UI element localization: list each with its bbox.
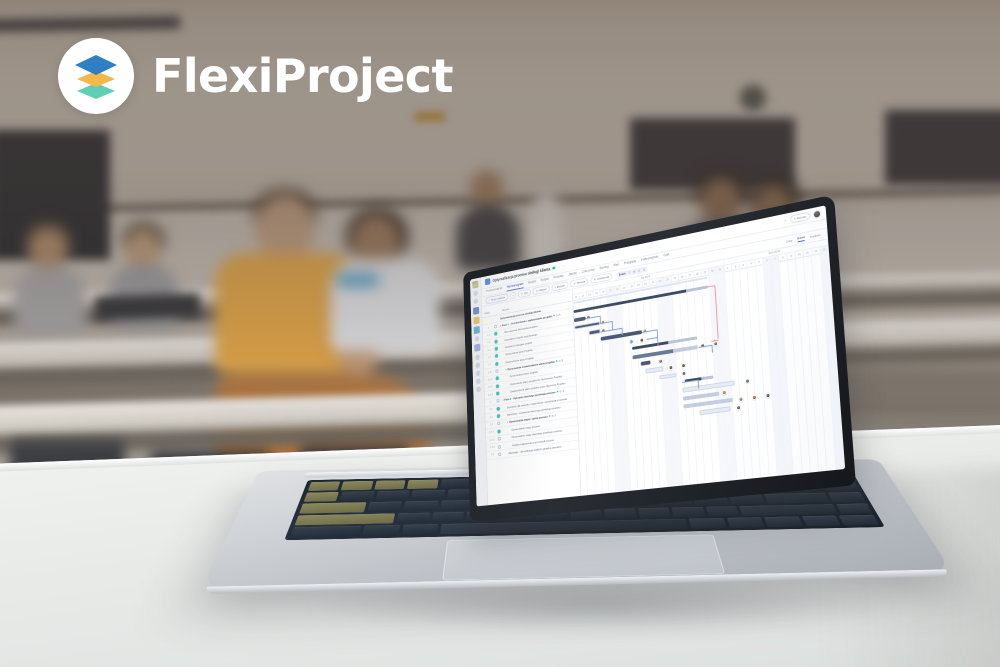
calendar-icon[interactable] xyxy=(476,370,481,376)
tab-scoring[interactable]: Scoring xyxy=(600,265,609,272)
status-open-icon xyxy=(498,452,501,456)
chevron-down-icon[interactable]: ▾ xyxy=(500,325,501,328)
bell-icon[interactable]: ☉ xyxy=(784,218,787,223)
risks-icon[interactable] xyxy=(475,354,480,360)
task-wbs: 2.1 xyxy=(487,408,495,412)
export-label: Eksport xyxy=(557,284,565,289)
status-badge xyxy=(553,266,556,270)
help-icon[interactable] xyxy=(476,387,481,393)
gantt-bar-progress xyxy=(589,330,599,334)
task-wbs xyxy=(484,320,492,322)
tab-plan[interactable]: Plan xyxy=(613,263,619,269)
task-wbs: 1 xyxy=(484,326,492,330)
view-gantt[interactable]: Gantt xyxy=(797,235,805,242)
star-icon[interactable]: ☆ xyxy=(558,265,561,269)
flexiproject-app: Optymalizacja procesu obsługi klienta ☆ … xyxy=(470,205,845,506)
task-wbs: 2 xyxy=(486,400,494,404)
gantt-assignee-avatar[interactable] xyxy=(658,358,663,364)
task-list[interactable]: WBS Nazwa Optymalizacja procesu obsługi … xyxy=(482,289,581,505)
task-wbs: 1.1 xyxy=(484,333,492,337)
reports-icon[interactable] xyxy=(474,326,480,334)
task-progress-badge: 0 / 3 xyxy=(559,359,563,362)
task-progress-badge: 0 / 4 xyxy=(560,390,564,393)
task-wbs: 1.4 xyxy=(485,355,493,359)
laptop-screen: Optymalizacja procesu obsługi klienta ☆ … xyxy=(470,205,845,506)
avatar[interactable] xyxy=(813,209,822,219)
status-done-icon xyxy=(497,414,500,418)
ceiling-speaker xyxy=(740,85,766,111)
more-icon[interactable]: ⋯ xyxy=(563,264,566,268)
task-wbs: 1.6.3 xyxy=(486,393,494,397)
stacked-layers-svg xyxy=(69,49,123,103)
view-lista[interactable]: Lista xyxy=(786,238,793,243)
task-wbs: 2.3.1 xyxy=(487,430,496,434)
filter-icon: ▽ xyxy=(521,292,523,296)
status-open-icon xyxy=(497,445,500,449)
timescale-t[interactable]: T xyxy=(627,270,631,274)
task-wbs: 2.3.3 xyxy=(488,446,497,450)
status-done-icon xyxy=(496,384,499,388)
history-icon: ↺ xyxy=(573,281,575,285)
status-done-icon xyxy=(497,429,500,433)
brand-logo: FlexiProject xyxy=(58,38,453,114)
chevron-down-icon[interactable]: ▾ xyxy=(507,422,508,425)
flag-icon: ⚑ xyxy=(548,415,550,419)
status-open-icon xyxy=(495,369,498,373)
task-rows: Optymalizacja procesu obsługi klienta1▾F… xyxy=(482,301,578,460)
background-laptop-left xyxy=(95,293,201,321)
view-kanban[interactable]: Kanban xyxy=(810,233,821,239)
history-label: Historia xyxy=(577,280,585,285)
task-wbs: 2.4 xyxy=(488,453,497,457)
settings-label: Ustawienia xyxy=(597,275,609,281)
task-wbs: 1.6.2 xyxy=(486,385,494,389)
column-header-wbs: WBS xyxy=(484,310,495,316)
flag-icon: ⚑ xyxy=(556,359,558,363)
chevron-down-icon[interactable]: ▾ xyxy=(503,399,504,402)
gantt-assignee-avatar[interactable] xyxy=(765,392,770,398)
column-header-name: Nazwa xyxy=(495,307,509,313)
flag-icon: ⚑ xyxy=(556,390,558,394)
status-open-icon xyxy=(494,325,497,329)
task-wbs: 1.5 xyxy=(485,363,493,367)
chevron-down-icon[interactable]: ▾ xyxy=(505,369,506,372)
status-open-icon xyxy=(496,399,499,403)
help-label: Pomoc xyxy=(797,214,807,220)
status-done-icon xyxy=(494,339,497,343)
tab-zasoby[interactable]: Zasoby xyxy=(568,271,577,278)
status-done-icon xyxy=(495,377,498,381)
gantt-assignee-avatar[interactable] xyxy=(639,337,644,342)
app-main: Optymalizacja procesu obsługi klienta ☆ … xyxy=(481,205,845,505)
tab-produkty[interactable]: Produkty xyxy=(553,274,563,281)
tab-ryzyka[interactable]: Ryzyka xyxy=(541,277,549,284)
timescale-active[interactable]: Dzień xyxy=(618,271,627,276)
flag-icon: ⚑ xyxy=(553,314,555,318)
wall-display-right xyxy=(885,110,1000,185)
status-done-icon xyxy=(494,332,497,336)
gantt-assignee-avatar[interactable] xyxy=(738,396,743,402)
help-question-icon: ? xyxy=(794,216,796,220)
settings-icon[interactable] xyxy=(476,378,481,384)
tab-czat[interactable]: Czat xyxy=(663,253,669,259)
laptop: Optymalizacja procesu obsługi klienta ☆ … xyxy=(262,225,882,645)
task-wbs: 1.6.1 xyxy=(486,378,494,382)
plus-icon: + xyxy=(489,298,490,302)
projects-icon[interactable] xyxy=(473,306,479,314)
tab-przeglady[interactable]: Przeglądy xyxy=(624,259,636,267)
filter-label: Filtr xyxy=(524,291,528,295)
status-done-icon xyxy=(494,347,497,351)
status-open-icon xyxy=(497,437,500,441)
help-button[interactable]: ? Pomoc xyxy=(790,211,811,223)
stacked-layers-icon xyxy=(58,38,134,114)
tasks-icon[interactable] xyxy=(473,316,479,324)
timescale-m[interactable]: M xyxy=(632,269,637,274)
status-done-icon xyxy=(496,407,499,411)
task-progress-badge: 0 / 3 xyxy=(552,415,556,418)
laptop-trackpad[interactable] xyxy=(442,534,725,580)
brand-name: FlexiProject xyxy=(152,49,453,103)
task-wbs: 1.3 xyxy=(485,348,493,352)
task-progress-badge: 0 / 6 xyxy=(556,314,560,317)
tab-budzet[interactable]: Budżet xyxy=(528,280,536,286)
timescale-k[interactable]: K xyxy=(637,268,641,273)
views-label: Widoki xyxy=(539,287,546,292)
team-icon[interactable] xyxy=(474,344,480,352)
status-done-icon xyxy=(496,392,499,396)
status-open-icon xyxy=(497,422,500,426)
status-done-icon xyxy=(495,362,498,366)
task-wbs: 1.6 xyxy=(486,370,494,374)
task-wbs: 2.2 xyxy=(487,415,496,419)
portfolio-icon[interactable] xyxy=(474,298,479,304)
new-task-label: Nowe zadanie xyxy=(491,295,505,301)
task-wbs: 2.3 xyxy=(487,423,496,427)
task-wbs: 2.3.2 xyxy=(488,438,497,442)
task-wbs: 1.2 xyxy=(485,341,493,345)
status-done-icon xyxy=(495,354,498,358)
layers-icon: ◳ xyxy=(536,289,538,293)
timescale-r[interactable]: R xyxy=(642,267,646,272)
resources-icon[interactable] xyxy=(475,336,480,342)
laptop-lid: Optymalizacja procesu obsługi klienta ☆ … xyxy=(463,194,856,521)
project-square-icon xyxy=(485,278,490,285)
export-icon: ⤓ xyxy=(555,285,556,289)
app-logo-icon[interactable] xyxy=(472,281,478,289)
gantt-assignee-avatar[interactable] xyxy=(752,394,757,400)
gear-icon: ⚙ xyxy=(594,277,596,281)
new-task-dropdown-caret[interactable]: ▾ xyxy=(510,291,516,300)
budget-icon[interactable] xyxy=(475,362,480,368)
dashboard-icon[interactable] xyxy=(473,290,478,296)
